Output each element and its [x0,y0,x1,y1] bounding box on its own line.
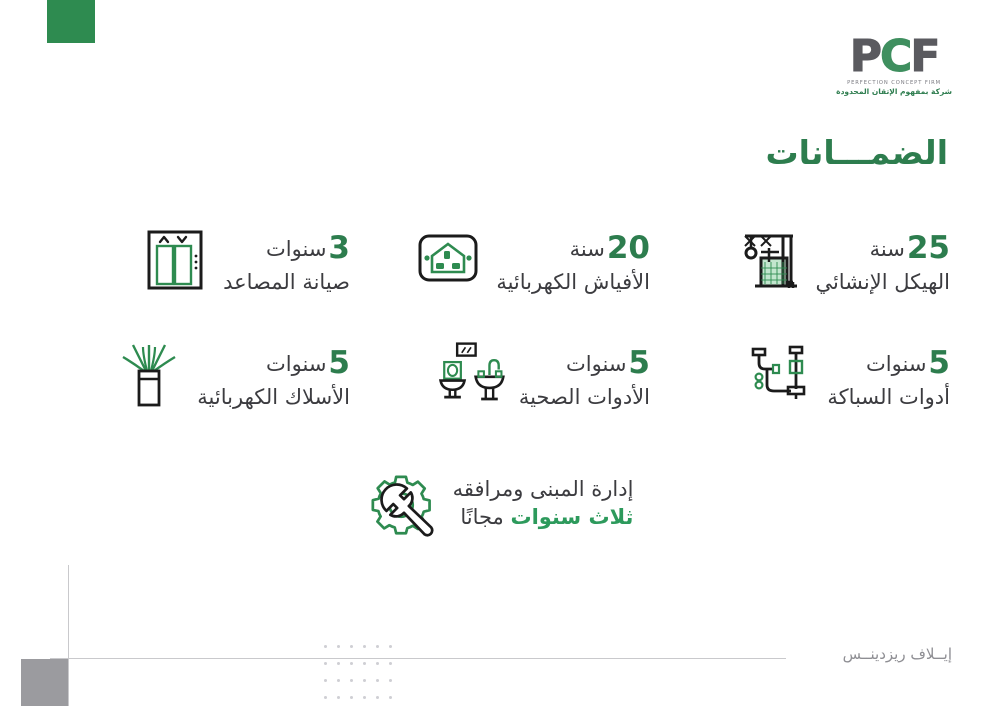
logo-letter-c: C [880,31,910,82]
guarantee-duration: 3سنوات [223,228,350,269]
guarantee-number: 3 [326,230,350,266]
horizontal-divider-line [50,658,786,659]
guarantee-item-wiring: 5سنوات الأسلاك الكهربائية [60,337,360,452]
guarantee-number: 20 [605,230,650,266]
project-brand-footer: إيــلاف ريزدينــس [843,645,952,663]
featured-text: إدارة المبنى ومرافقه ثلاث سنوات مجانًا [453,472,634,531]
dot-grid-decoration [314,645,392,706]
guarantee-item-structural: 25سنة الهيكل الإنشائي [660,222,960,337]
page-title: الضمـــانات [765,133,948,172]
guarantee-duration: 20سنة [496,228,650,269]
elevator-icon [139,222,211,294]
logo-letter-p: P [850,31,880,82]
featured-line-two: ثلاث سنوات مجانًا [453,504,634,532]
featured-line-one: إدارة المبنى ومرافقه [453,476,634,504]
guarantee-subject: صيانة المصاعد [223,269,350,297]
guarantee-text: 20سنة الأفياش الكهربائية [496,222,650,297]
guarantee-text: 5سنوات الأسلاك الكهربائية [197,337,350,412]
guarantee-unit: سنوات [266,237,326,261]
featured-guarantee-building-management: إدارة المبنى ومرافقه ثلاث سنوات مجانًا [0,472,1000,544]
guarantee-unit: سنوات [866,352,926,376]
gear-wrench-icon [367,472,439,544]
guarantee-subject: الأسلاك الكهربائية [197,384,350,412]
guarantee-text: 5سنوات أدوات السباكة [827,337,950,412]
logo-tagline-english: PERFECTION CONCEPT FIRM [836,80,952,86]
vertical-divider-line [68,565,69,706]
crane-icon [731,222,803,294]
guarantee-item-sockets: 20سنة الأفياش الكهربائية [360,222,660,337]
guarantee-number: 5 [926,345,950,381]
guarantee-text: 5سنوات الأدوات الصحية [519,337,650,412]
guarantee-unit: سنوات [266,352,326,376]
guarantee-item-elevator: 3سنوات صيانة المصاعد [60,222,360,337]
guarantee-unit: سنة [570,237,605,261]
guarantee-unit: سنوات [566,352,626,376]
guarantees-grid: 25سنة الهيكل الإنشائي [60,222,960,452]
guarantee-item-sanitary: 5سنوات الأدوات الصحية [360,337,660,452]
guarantee-number: 5 [326,345,350,381]
guarantee-item-plumbing: 5سنوات أدوات السباكة [660,337,960,452]
guarantee-duration: 5سنوات [827,343,950,384]
power-socket-icon [412,222,484,294]
guarantee-duration: 5سنوات [197,343,350,384]
toilet-sink-icon [435,337,507,409]
logo-letter-f: F [910,31,938,82]
slide-canvas: PCF PERFECTION CONCEPT FIRM شركة بمفهوم … [0,0,1000,706]
guarantee-subject: الهيكل الإنشائي [815,269,950,297]
guarantee-subject: أدوات السباكة [827,384,950,412]
featured-free-label: مجانًا [460,505,503,529]
guarantee-number: 25 [905,230,950,266]
guarantee-unit: سنة [870,237,905,261]
electrical-wires-icon [113,337,185,409]
bottom-left-gray-accent-square [21,659,68,706]
featured-highlight-duration: ثلاث سنوات [510,505,633,529]
logo-wordmark: PCF [836,36,952,78]
guarantee-text: 3سنوات صيانة المصاعد [223,222,350,297]
logo-tagline-arabic: شركة بمفهوم الإتقان المحدودة [836,87,952,96]
guarantee-subject: الأدوات الصحية [519,384,650,412]
guarantee-duration: 5سنوات [519,343,650,384]
guarantee-duration: 25سنة [815,228,950,269]
plumbing-pipes-icon [743,337,815,409]
guarantee-subject: الأفياش الكهربائية [496,269,650,297]
top-left-green-accent-square [47,0,95,43]
guarantee-text: 25سنة الهيكل الإنشائي [815,222,950,297]
company-logo: PCF PERFECTION CONCEPT FIRM شركة بمفهوم … [836,36,952,96]
guarantee-number: 5 [626,345,650,381]
